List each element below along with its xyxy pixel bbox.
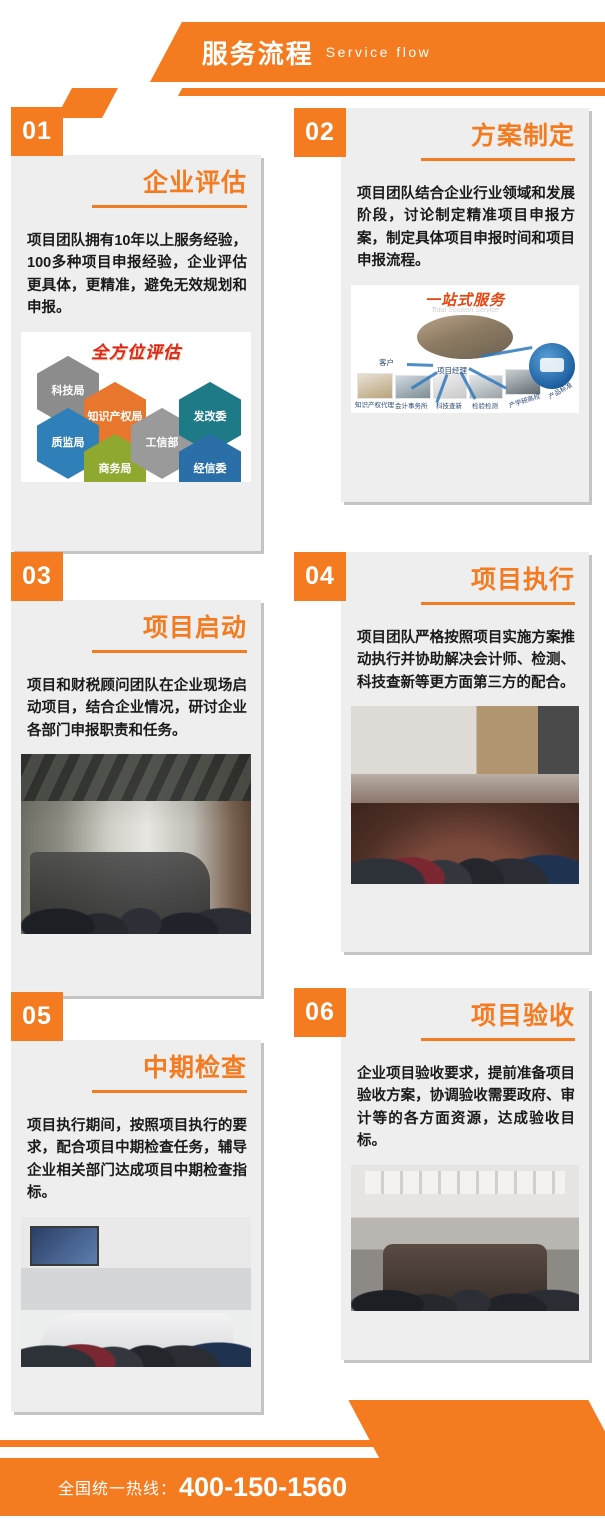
step-card-06[interactable]: 06 项目验收 企业项目验收要求，提前准备项目验收方案，协调验收需要政府、审计等… <box>341 988 589 1360</box>
step-card-03[interactable]: 03 项目启动 项目和财税顾问团队在企业现场启动项目，结合企业情况，研讨企业各部… <box>11 600 261 996</box>
step-title-02: 方案制定 <box>355 122 575 151</box>
step-title-06: 项目验收 <box>355 1002 575 1031</box>
one-stop-diagram-media: 一站式服务 Total Solution Service 客户 项目经理 <box>351 285 579 413</box>
node-photo-ip-agency <box>357 373 393 399</box>
step-number-badge-06: 06 <box>294 988 346 1037</box>
step-card-04[interactable]: 04 项目执行 项目团队严格按照项目实施方案推动执行并协助解决会计师、检测、科技… <box>341 552 589 952</box>
title-underline <box>92 205 247 208</box>
photo-conference-room <box>21 754 251 934</box>
title-underline <box>421 1038 575 1041</box>
one-stop-label-customer: 客户 <box>379 357 394 368</box>
step-number-badge-02: 02 <box>294 108 346 157</box>
step-body-05: 项目执行期间，按照项目执行的要求，配合项目中期检查任务，辅导企业相关部门达成项目… <box>11 1102 261 1217</box>
title-underline <box>92 1090 247 1093</box>
one-stop-label-tech-search: 科技查新 <box>436 400 462 410</box>
step-title-01: 企业评估 <box>25 169 247 198</box>
step-body-03: 项目和财税顾问团队在企业现场启动项目，结合企业情况，研讨企业各部门申报职责和任务… <box>11 662 261 754</box>
step-card-02[interactable]: 02 方案制定 项目团队结合企业行业领域和发展阶段，讨论制定精准项目申报方案，制… <box>341 108 589 502</box>
one-stop-label-inspection: 检验检测 <box>472 400 498 410</box>
hotline-number[interactable]: 400-150-1560 <box>179 1472 347 1503</box>
one-stop-label-accounting: 会计事务所 <box>395 400 428 410</box>
title-underline <box>92 650 247 653</box>
step-title-04: 项目执行 <box>355 566 575 595</box>
step-body-02: 项目团队结合企业行业领域和发展阶段，讨论制定精准项目申报方案，制定具体项目申报时… <box>341 170 589 285</box>
title-underline <box>421 158 575 161</box>
step-body-01: 项目团队拥有10年以上服务经验，100多种项目申报经验，企业评估更具体，更精准，… <box>11 217 261 332</box>
one-stop-label-manager: 项目经理 <box>437 365 467 376</box>
step-number-badge-05: 05 <box>11 992 63 1041</box>
step-body-04: 项目团队严格按照项目实施方案推动执行并协助解决会计师、检测、科技查新等更方面第三… <box>341 614 589 706</box>
service-flow-page: 服务流程 Service flow 01 企业评估 项目团队拥有10年以上服务经… <box>0 0 605 1538</box>
one-stop-subtitle: Total Solution Service <box>431 307 498 314</box>
step-title-05: 中期检查 <box>25 1054 247 1083</box>
page-title: 服务流程 <box>202 34 314 71</box>
step-title-03: 项目启动 <box>25 614 247 643</box>
step-number-badge-03: 03 <box>11 552 63 601</box>
hex-diagram-title: 全方位评估 <box>91 338 181 363</box>
hex-diagram-media: 全方位评估 科技局 知识产权局 质监局 商务局 工信部 发改委 经信委 <box>21 332 251 482</box>
title-underline <box>421 602 575 605</box>
step-number-badge-01: 01 <box>11 107 63 156</box>
header-accent-line <box>178 88 605 96</box>
one-stop-label-ip-agency: 知识产权代理 <box>355 399 394 409</box>
flow-arrow <box>407 363 433 367</box>
step-body-06: 企业项目验收要求，提前准备项目验收方案，协调验收需要政府、审计等的各方面资源，达… <box>341 1050 589 1165</box>
page-subtitle: Service flow <box>326 44 431 60</box>
page-footer: 全国统一热线： 400-150-1560 <box>0 1400 605 1538</box>
step-card-05[interactable]: 05 中期检查 项目执行期间，按照项目执行的要求，配合项目中期检查任务，辅导企业… <box>11 1040 261 1412</box>
step-card-01[interactable]: 01 企业评估 项目团队拥有10年以上服务经验，100多种项目申报经验，企业评估… <box>11 155 261 551</box>
photo-lobby-briefing <box>21 1217 251 1367</box>
cards-grid: 01 企业评估 项目团队拥有10年以上服务经验，100多种项目申报经验，企业评估… <box>0 104 605 1424</box>
page-header: 服务流程 Service flow <box>0 0 605 118</box>
photo-meeting-laptops <box>351 706 579 884</box>
photo-boardroom <box>351 1165 579 1311</box>
step-number-badge-04: 04 <box>294 552 346 601</box>
hotline-label: 全国统一热线： <box>58 1475 177 1499</box>
